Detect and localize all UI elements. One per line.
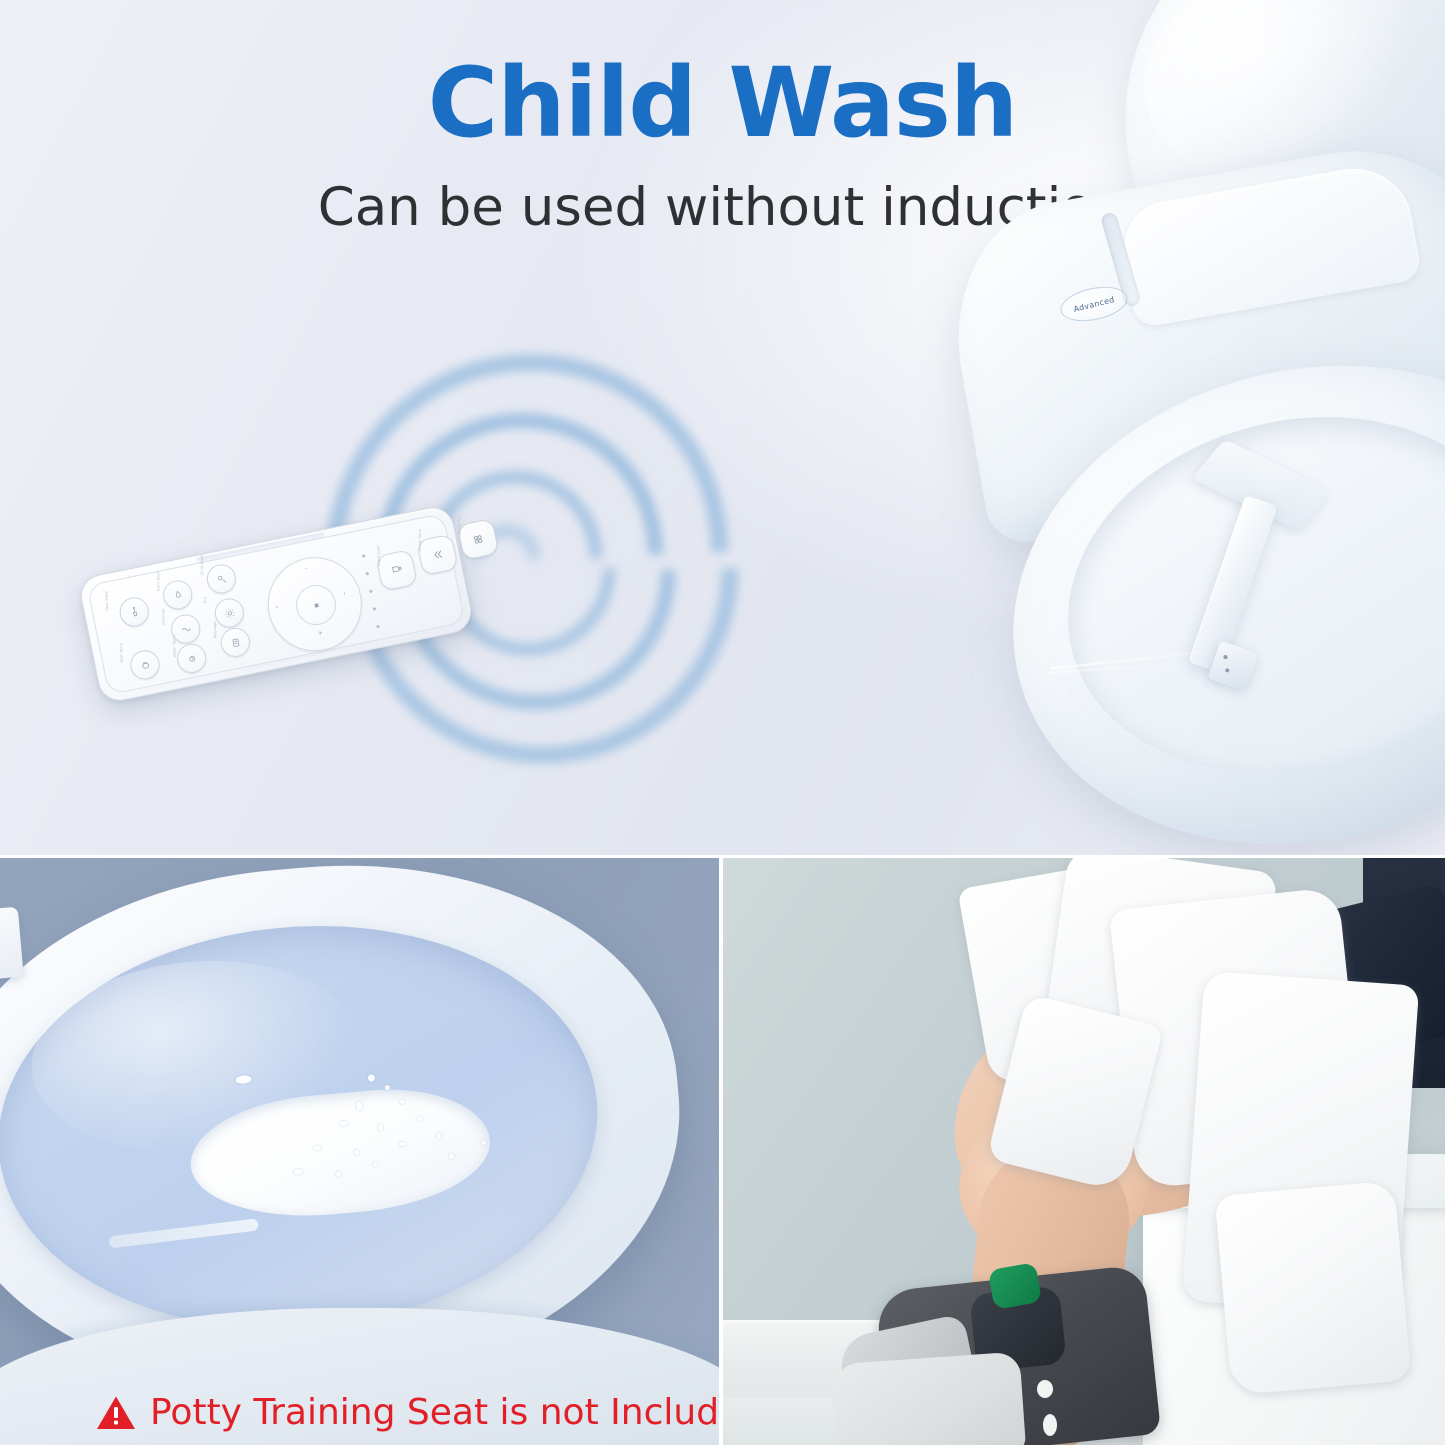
remote-dpad-center-stop[interactable] xyxy=(292,581,339,628)
indicator-dot xyxy=(366,572,369,575)
remote-button-massage[interactable] xyxy=(218,625,252,659)
nozzle-port xyxy=(1223,655,1228,660)
brand-logo-text: Advanced xyxy=(1073,295,1116,314)
remote-label-child-wash: Child Wash xyxy=(200,554,205,575)
remote-label-water-temp: Water Temp xyxy=(172,635,177,657)
photo-child-on-toilet xyxy=(723,858,1445,1445)
child-wash-icon xyxy=(214,572,228,586)
bidet-seat-product: Advanced xyxy=(900,0,1445,857)
stop-icon xyxy=(311,600,322,611)
water-temp-icon xyxy=(185,651,199,665)
indicator-dot xyxy=(362,554,365,557)
deodorize-icon xyxy=(470,531,487,548)
remote-label-night-light: Night Light xyxy=(377,545,382,566)
panel-divider-vertical xyxy=(719,858,723,1445)
dry-icon xyxy=(222,606,236,620)
remote-dpad-left[interactable]: ‹ xyxy=(275,604,279,611)
bidet-side-panel xyxy=(1116,159,1423,329)
remote-label-front-wash: Front Wash xyxy=(156,570,161,591)
pants-button xyxy=(1037,1380,1053,1398)
remote-label-deodorize: Deodorize xyxy=(457,515,461,534)
product-feature-image: Child Wash Can be used without induction xyxy=(0,0,1445,1445)
remote-dpad[interactable]: – + ‹ › xyxy=(259,549,370,660)
toilet-paper-sheet xyxy=(1215,1181,1412,1396)
remote-button-seat-temp[interactable] xyxy=(128,648,162,682)
remote-dpad-right[interactable]: › xyxy=(343,590,347,597)
night-light-icon xyxy=(388,562,405,579)
remote-label-oscillate: Oscillate xyxy=(161,608,165,625)
remote-dpad-minus[interactable]: – xyxy=(304,565,308,572)
warning-notice: Potty Training Seat is not Included xyxy=(96,1395,719,1431)
indicator-dot xyxy=(369,590,372,593)
front-wash-icon xyxy=(171,588,185,602)
seat-temp-icon xyxy=(138,658,152,672)
indicator-dot xyxy=(376,625,379,628)
hero-panel: Child Wash Can be used without induction xyxy=(0,0,1445,857)
remote-button-front-wash[interactable] xyxy=(161,578,195,612)
remote-button-water-temp[interactable] xyxy=(175,641,209,675)
power-save-icon xyxy=(429,547,446,564)
remote-label-massage: Massage xyxy=(213,621,217,638)
pants-lower-fold xyxy=(830,1351,1027,1445)
pants-button xyxy=(1043,1414,1057,1436)
warning-text: Potty Training Seat is not Included xyxy=(150,1395,719,1431)
nozzle-port xyxy=(1225,668,1230,673)
remote-body: Rear Wash Front Wash Child Wash Oscillat… xyxy=(77,503,475,704)
rear-wash-icon xyxy=(127,605,141,619)
remote-button-child-wash[interactable] xyxy=(204,562,238,596)
remote-control[interactable]: Rear Wash Front Wash Child Wash Oscillat… xyxy=(78,512,478,712)
remote-button-rear-wash[interactable] xyxy=(117,595,151,629)
remote-button-night-light[interactable] xyxy=(375,549,417,591)
oscillate-icon xyxy=(179,622,193,636)
remote-dpad-plus[interactable]: + xyxy=(317,629,323,637)
remote-faceplate: Rear Wash Front Wash Child Wash Oscillat… xyxy=(86,513,465,695)
massage-icon xyxy=(228,635,242,649)
remote-label-dry: Dry xyxy=(203,597,207,604)
photo-potty-training-seat: Potty Training Seat is not Included xyxy=(0,858,719,1445)
remote-button-power-save[interactable] xyxy=(416,534,458,576)
remote-label-power-save: Power Save xyxy=(418,529,423,551)
remote-label-rear-wash: Rear Wash xyxy=(105,591,110,611)
remote-button-dry[interactable] xyxy=(212,596,246,630)
indicator-dot xyxy=(373,607,376,610)
remote-label-seat-temp: Seat Temp xyxy=(119,643,124,663)
warning-triangle-icon xyxy=(96,1395,136,1431)
